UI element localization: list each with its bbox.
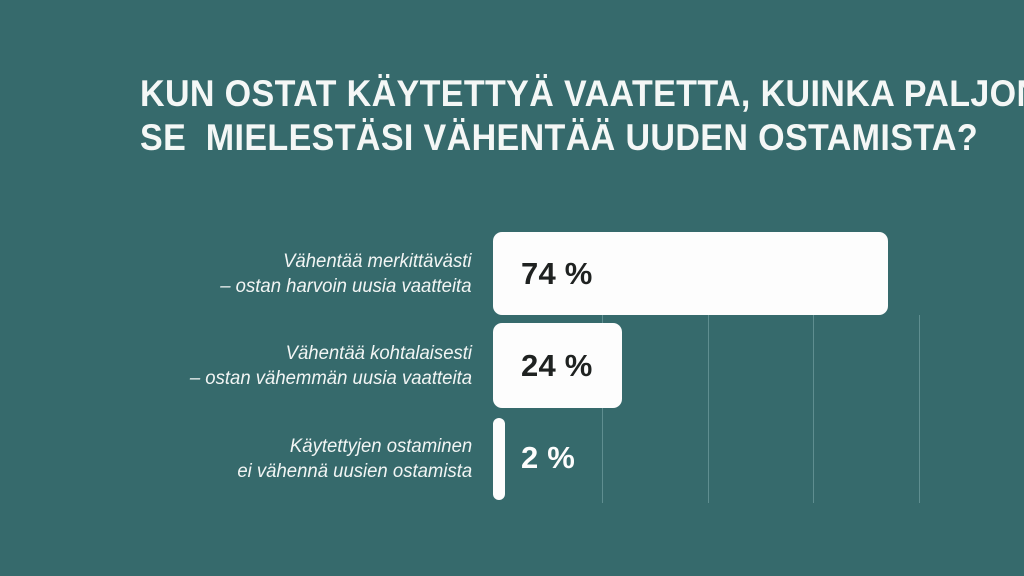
bar-segment <box>493 418 505 500</box>
bar-chart: Vähentää merkittävästi – ostan harvoin u… <box>0 0 1024 576</box>
category-label-line-1: Vähentää kohtalaisesti <box>190 341 472 366</box>
category-label-line-2: – ostan vähemmän uusia vaatteita <box>190 366 472 391</box>
chart-row: Vähentää kohtalaisesti – ostan vähemmän … <box>0 323 1024 408</box>
category-label: Vähentää merkittävästi – ostan harvoin u… <box>221 249 472 299</box>
category-label-line-1: Vähentää merkittävästi <box>221 249 472 274</box>
chart-row: Käytettyjen ostaminen ei vähennä uusien … <box>0 418 1024 500</box>
bar-value-label: 2 % <box>521 442 575 473</box>
category-label-line-2: ei vähennä uusien ostamista <box>237 459 472 484</box>
bar-value-label: 24 % <box>521 350 592 381</box>
bar-value-label: 74 % <box>521 258 592 289</box>
category-label-line-1: Käytettyjen ostaminen <box>237 434 472 459</box>
chart-row: Vähentää merkittävästi – ostan harvoin u… <box>0 232 1024 315</box>
category-label-line-2: – ostan harvoin uusia vaatteita <box>221 274 472 299</box>
category-label: Käytettyjen ostaminen ei vähennä uusien … <box>237 434 472 484</box>
infographic-canvas: KUN OSTAT KÄYTETTYÄ VAATETTA, KUINKA PAL… <box>0 0 1024 576</box>
category-label: Vähentää kohtalaisesti – ostan vähemmän … <box>190 341 472 391</box>
